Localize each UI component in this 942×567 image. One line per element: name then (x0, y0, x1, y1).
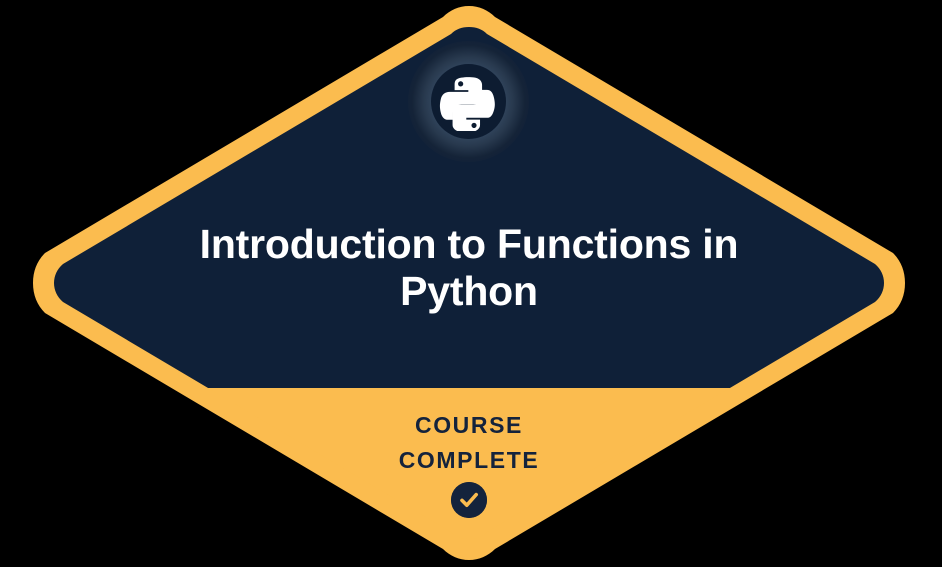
badge-title: Introduction to Functions in Python (171, 221, 767, 315)
python-emblem (408, 41, 529, 162)
badge-title-line-2: Python (400, 268, 538, 314)
badge-caption-line-2: COMPLETE (221, 443, 717, 478)
check-circle-icon (451, 482, 487, 518)
python-logo-icon (439, 72, 498, 131)
badge-caption-line-1: COURSE (221, 408, 717, 443)
badge-canvas: Introduction to Functions in Python COUR… (0, 0, 942, 567)
badge-caption: COURSE COMPLETE (221, 408, 717, 478)
badge-title-line-1: Introduction to Functions in (200, 221, 739, 267)
